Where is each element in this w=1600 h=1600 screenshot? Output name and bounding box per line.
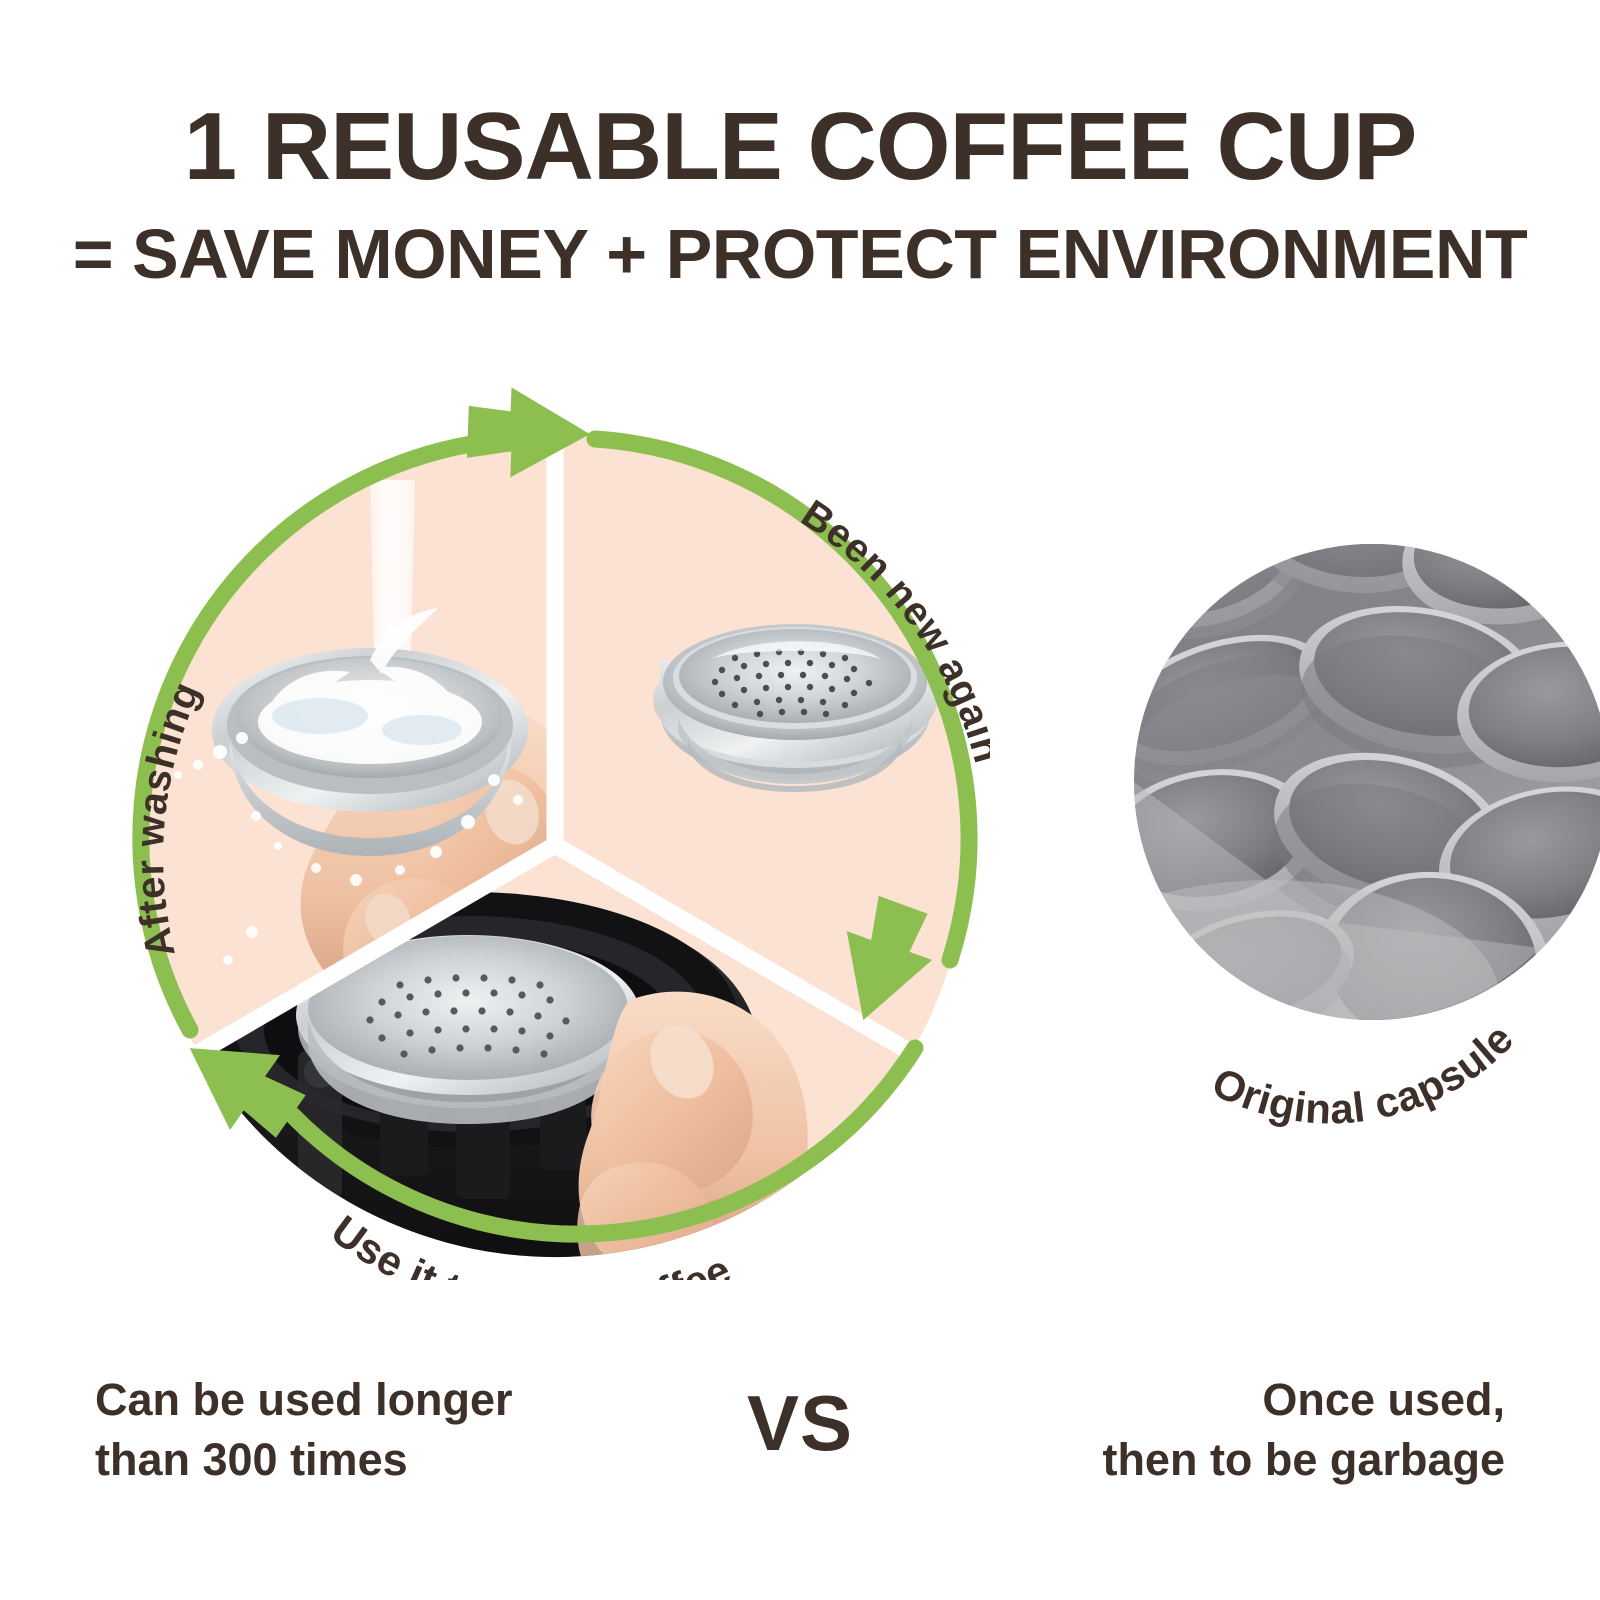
right-caption-line1: Once used, xyxy=(945,1370,1505,1430)
photo-used-coffee-pods xyxy=(1020,360,1600,1280)
vs-label: VS xyxy=(640,1378,960,1469)
comparison-left-caption: Can be used longer than 300 times xyxy=(95,1370,615,1491)
right-caption-line2: then to be garbage xyxy=(945,1430,1505,1490)
recycling-cycle-diagram: After washing Been new again Use it to m… xyxy=(70,360,990,1280)
headline-secondary: = SAVE MONEY + PROTECT ENVIRONMENT xyxy=(0,214,1600,295)
label-original-capsule: Original capsule xyxy=(1205,1015,1522,1133)
headline-primary: 1 REUSABLE COFFEE CUP xyxy=(0,96,1600,198)
left-caption-line1: Can be used longer xyxy=(95,1370,615,1430)
comparison-right-caption: Once used, then to be garbage xyxy=(945,1370,1505,1491)
headline-block: 1 REUSABLE COFFEE CUP = SAVE MONEY + PRO… xyxy=(0,96,1600,294)
original-capsule-panel: Original capsule xyxy=(1020,360,1600,1280)
comparison-row: Can be used longer than 300 times VS Onc… xyxy=(0,1370,1600,1550)
left-caption-line2: than 300 times xyxy=(95,1430,615,1490)
